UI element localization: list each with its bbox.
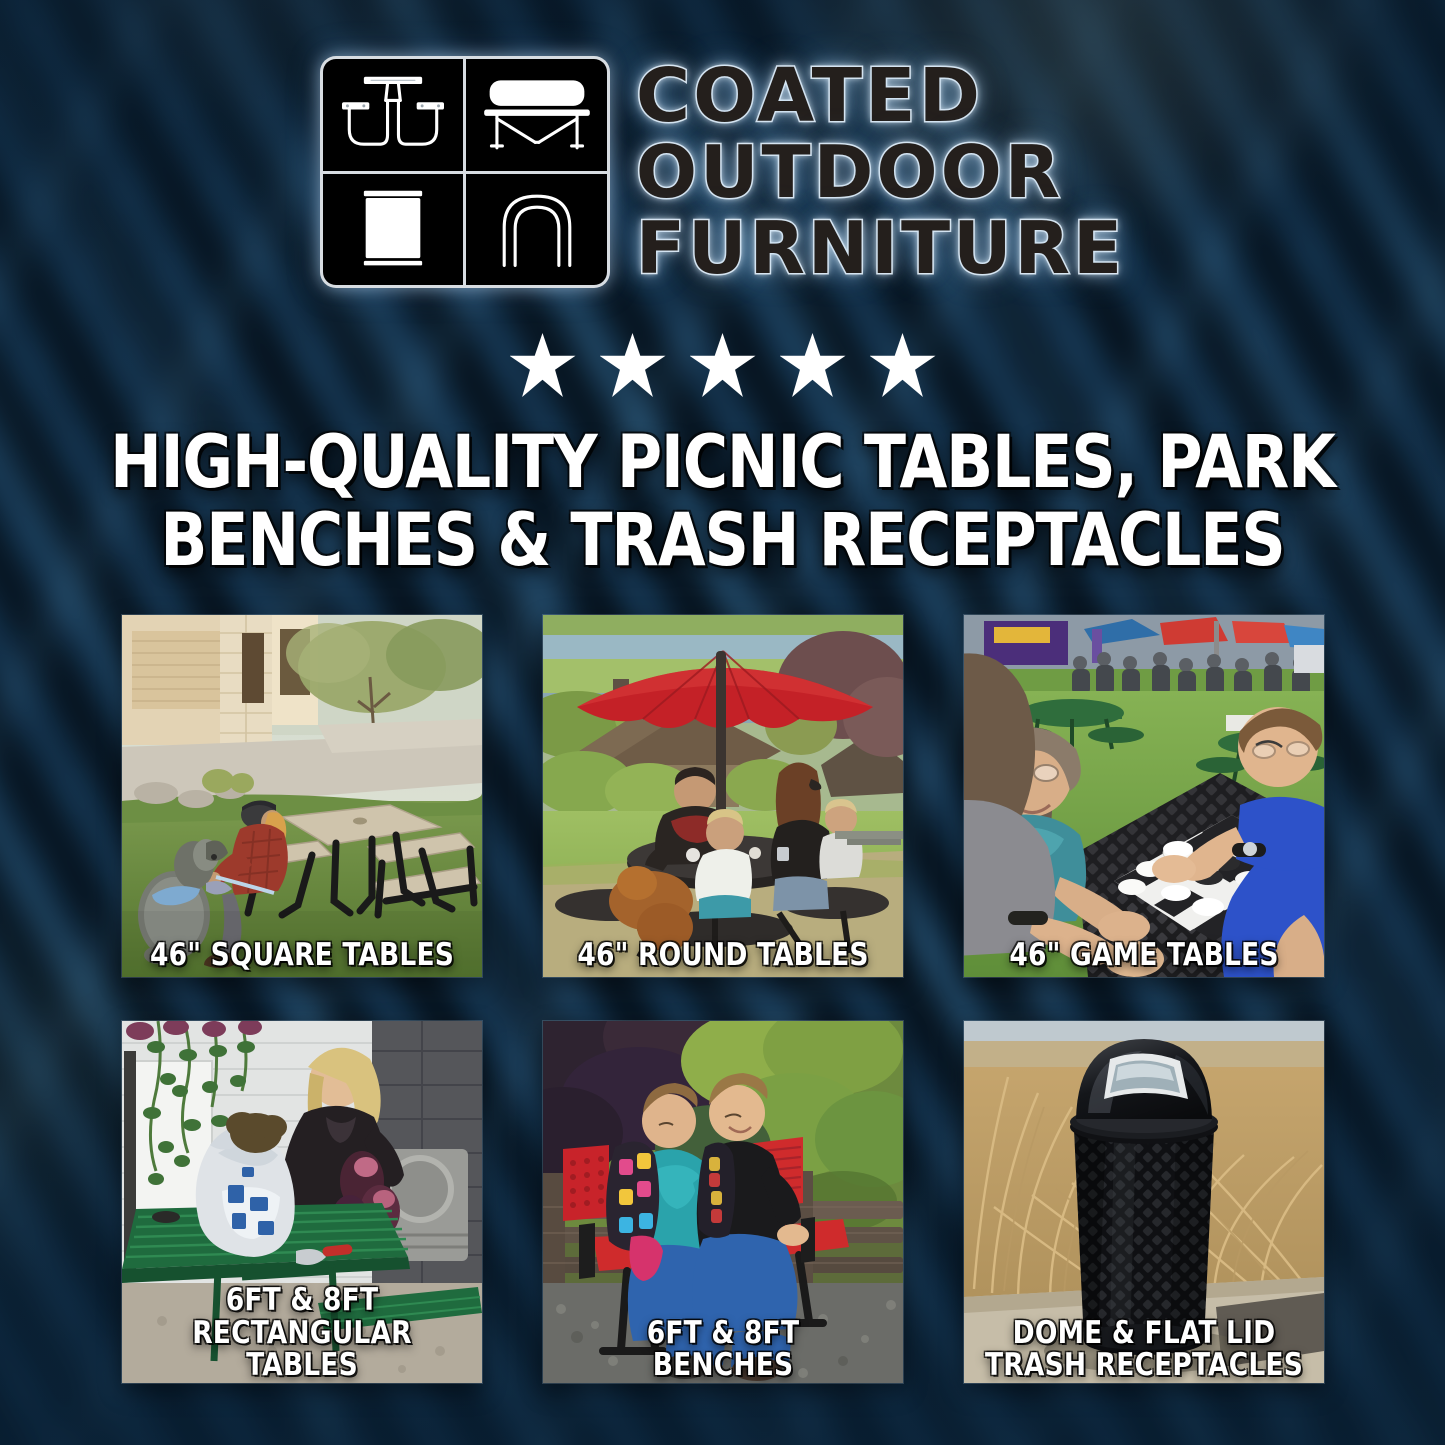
caption-line: 6FT & 8FT [558, 1317, 889, 1349]
headline-line-2: BENCHES & TRASH RECEPTACLES [94, 502, 1351, 580]
product-caption-square-tables: 46" SQUARE TABLES [131, 939, 473, 971]
wordmark-line-3: FURNITURE [636, 213, 1125, 284]
star-rating [0, 333, 1445, 397]
star-icon [870, 333, 936, 397]
star-icon [690, 333, 756, 397]
product-caption-trash-receptacles: DOME & FLAT LID TRASH RECEPTACLES [973, 1317, 1315, 1381]
logo-icon-grid [320, 56, 610, 288]
product-caption-game-tables: 46" GAME TABLES [973, 939, 1315, 971]
caption-line: 6FT & 8FT [137, 1284, 468, 1316]
brand-wordmark: COATED OUTDOOR FURNITURE [636, 56, 1125, 284]
product-card-game-tables[interactable]: 46" GAME TABLES [964, 615, 1324, 977]
star-icon [510, 333, 576, 397]
caption-line: 46" ROUND TABLES [558, 939, 889, 971]
picnic-table-icon [323, 59, 464, 171]
product-card-rectangular-tables[interactable]: 6FT & 8FT RECTANGULAR TABLES [122, 1021, 482, 1383]
product-grid: 46" SQUARE TABLES [122, 615, 1325, 1383]
star-icon [780, 333, 846, 397]
wordmark-line-1: COATED [636, 60, 983, 133]
product-card-square-tables[interactable]: 46" SQUARE TABLES [122, 615, 482, 977]
product-card-trash-receptacles[interactable]: DOME & FLAT LID TRASH RECEPTACLES [964, 1021, 1324, 1383]
trash-receptacle-icon [323, 174, 464, 286]
caption-line: RECTANGULAR TABLES [137, 1317, 468, 1381]
product-photo-square-tables [122, 615, 482, 977]
headline: HIGH-QUALITY PICNIC TABLES, PARK BENCHES… [0, 424, 1445, 580]
product-card-round-tables[interactable]: 46" ROUND TABLES [543, 615, 903, 977]
product-caption-benches: 6FT & 8FT BENCHES [552, 1317, 894, 1381]
dome-lid-icon [466, 174, 607, 286]
park-bench-icon [466, 59, 607, 171]
brand-logo: COATED OUTDOOR FURNITURE [0, 56, 1445, 288]
product-photo-game-tables [964, 615, 1324, 977]
headline-line-1: HIGH-QUALITY PICNIC TABLES, PARK [94, 424, 1351, 502]
star-icon [600, 333, 666, 397]
poster-content: COATED OUTDOOR FURNITURE HIGH-QUALITY PI… [0, 0, 1445, 1445]
caption-line: BENCHES [558, 1349, 889, 1381]
product-caption-rectangular-tables: 6FT & 8FT RECTANGULAR TABLES [131, 1284, 473, 1381]
product-caption-round-tables: 46" ROUND TABLES [552, 939, 894, 971]
caption-line: 46" SQUARE TABLES [137, 939, 468, 971]
wordmark-line-2: OUTDOOR [636, 137, 1063, 208]
caption-line: TRASH RECEPTACLES [979, 1349, 1310, 1381]
product-photo-round-tables [543, 615, 903, 977]
product-card-benches[interactable]: 6FT & 8FT BENCHES [543, 1021, 903, 1383]
caption-line: DOME & FLAT LID [979, 1317, 1310, 1349]
caption-line: 46" GAME TABLES [979, 939, 1310, 971]
